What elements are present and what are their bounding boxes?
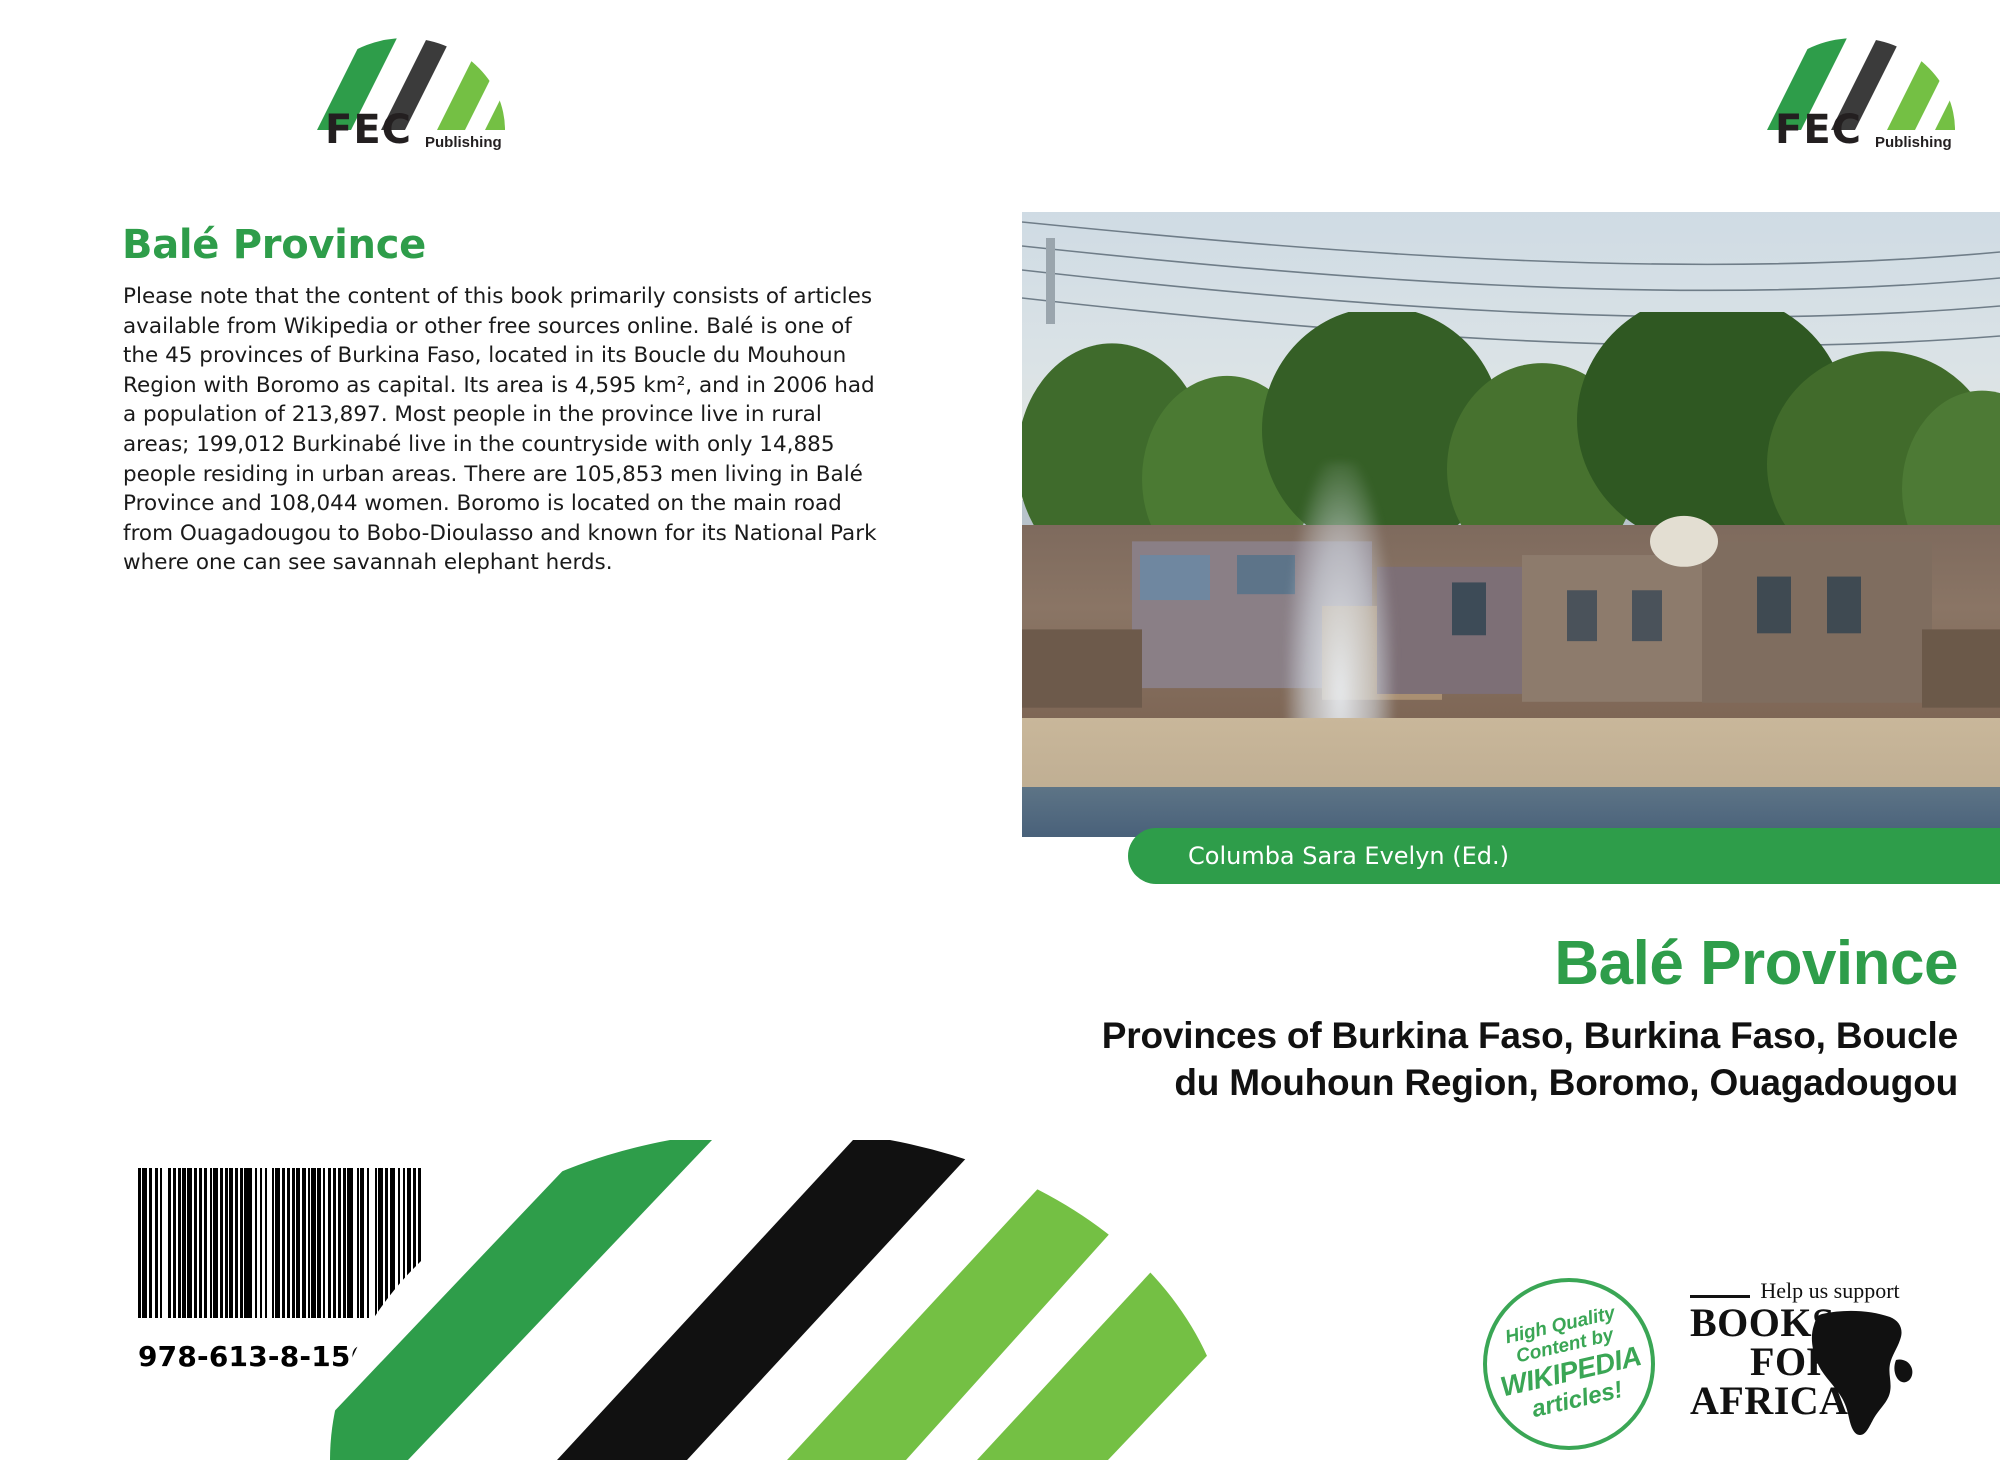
editor-banner: Columba Sara Evelyn (Ed.) [1128, 828, 2000, 884]
bfa-rule [1690, 1295, 1750, 1298]
publisher-logo-subtext: Publishing [1875, 134, 1952, 151]
publisher-logo-back: FEC Publishing [305, 38, 505, 168]
publisher-logo-wordmark: FEC [325, 110, 412, 150]
photo-smoke [1286, 462, 1394, 750]
stamp-text: High Quality Content by WIKIPEDIA articl… [1466, 1261, 1672, 1467]
photo-building-details [1022, 512, 2000, 737]
wikipedia-quality-stamp: High Quality Content by WIKIPEDIA articl… [1483, 1278, 1655, 1450]
front-cover-title: Balé Province [1554, 928, 1958, 999]
back-cover-title: Balé Province [122, 222, 426, 268]
arc-stripes-icon [330, 1140, 1230, 1460]
editor-name: Columba Sara Evelyn (Ed.) [1188, 842, 1509, 870]
africa-map-icon [1804, 1308, 1924, 1436]
cover-photograph [1022, 212, 2000, 837]
front-cover-subtitle: Provinces of Burkina Faso, Burkina Faso,… [1058, 1012, 1958, 1106]
publisher-logo-subtext: Publishing [425, 134, 502, 151]
photo-riverbank [1022, 718, 2000, 793]
back-cover-description: Please note that the content of this boo… [123, 282, 883, 578]
decorative-arc-graphic [330, 1140, 1230, 1460]
books-for-africa-logo: Help us support BOOKS FOR AFRICA [1690, 1278, 1930, 1438]
publisher-logo-front: FEC Publishing [1755, 38, 1955, 168]
publisher-logo-wordmark: FEC [1775, 110, 1862, 150]
